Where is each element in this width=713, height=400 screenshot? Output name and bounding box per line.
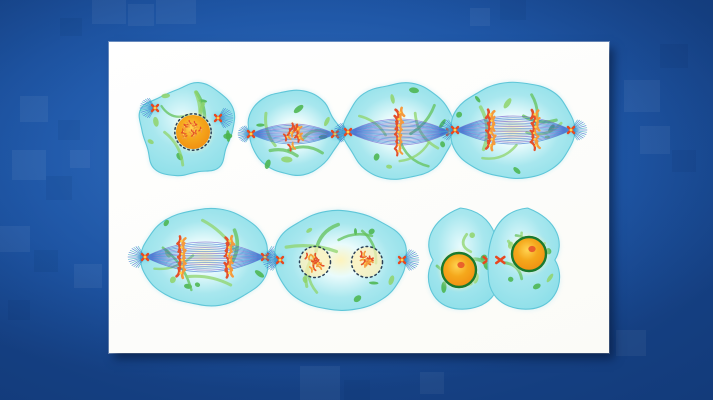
centriole-core bbox=[154, 107, 157, 110]
nucleolus bbox=[528, 246, 535, 252]
centriole-core bbox=[347, 131, 350, 134]
nucleus bbox=[512, 237, 546, 271]
mitosis-diagram bbox=[109, 42, 609, 353]
cell-cytokinesis bbox=[427, 208, 561, 311]
centriole-core bbox=[401, 259, 404, 262]
centriole-core bbox=[250, 133, 253, 136]
screenshot-stage: Mitosis stages illustration bbox=[0, 0, 713, 400]
centriole-core bbox=[279, 259, 282, 262]
cell-late-anaphase bbox=[128, 207, 282, 308]
illustration-card: Mitosis stages illustration bbox=[109, 42, 609, 353]
cell-telophase bbox=[263, 209, 419, 312]
cell-anaphase bbox=[439, 81, 587, 180]
centromere bbox=[398, 137, 400, 139]
nucleolus bbox=[457, 262, 464, 268]
cell-metaphase bbox=[334, 81, 464, 181]
daughter-cell bbox=[488, 208, 561, 311]
centriole-core bbox=[217, 117, 220, 120]
cell-prometaphase bbox=[238, 88, 348, 177]
centromere bbox=[181, 265, 183, 267]
nucleus bbox=[442, 253, 476, 287]
cell-prophase bbox=[138, 81, 237, 177]
centriole-core bbox=[144, 256, 147, 259]
chromatid bbox=[400, 135, 401, 142]
cell-membrane bbox=[275, 210, 407, 310]
centriole-core bbox=[454, 129, 457, 132]
centriole-core bbox=[570, 129, 573, 132]
